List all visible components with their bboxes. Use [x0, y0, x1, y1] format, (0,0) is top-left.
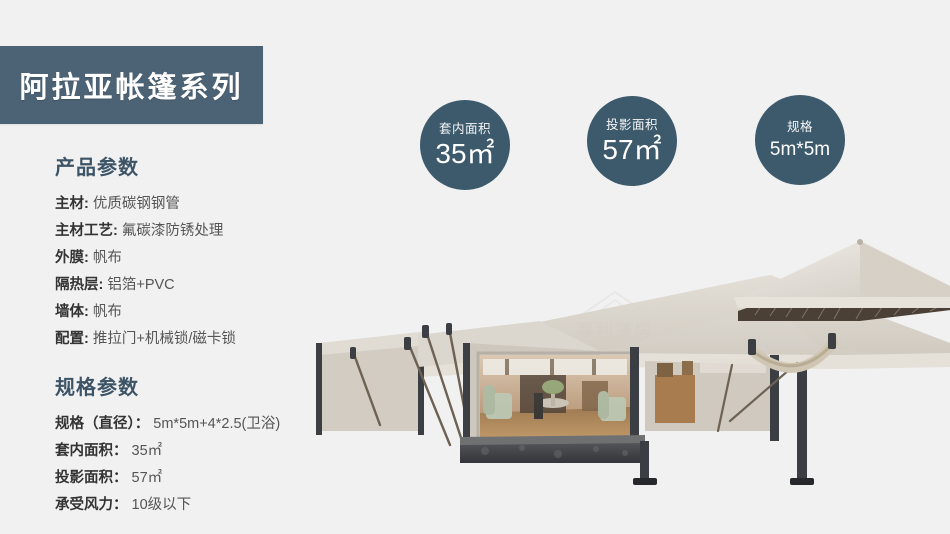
badge-label: 规格 [787, 119, 813, 135]
title-banner: 阿拉亚帐篷系列 [0, 46, 263, 124]
spec-value: 推拉门+机械锁/磁卡锁 [93, 331, 236, 347]
spec-key: 套内面积： [55, 443, 128, 459]
spec-row: 承受风力： 10级以下 [55, 492, 345, 519]
product-spec-page: 阿拉亚帐篷系列 产品参数 主材: 优质碳钢钢管 主材工艺: 氟碳漆防锈处理 外膜… [0, 0, 950, 534]
post-base-plate [790, 478, 814, 485]
spec-key: 投影面积： [55, 470, 128, 486]
spec-key: 承受风力： [55, 497, 128, 513]
spec-key: 主材工艺: [55, 223, 118, 239]
spec-value: 优质碳钢钢管 [93, 196, 180, 212]
badge-label: 投影面积 [606, 117, 658, 133]
glass-reflection [480, 355, 630, 443]
badge-circle-dimensions: 规格 5m*5m [755, 95, 845, 185]
facade-post-lower [640, 441, 649, 481]
roof-finial [857, 239, 863, 245]
spec-value: 5m*5m+4*2.5(卫浴) [153, 416, 280, 432]
product-params-heading: 产品参数 [55, 155, 345, 181]
spec-key: 隔热层: [55, 277, 103, 293]
spec-value: 35㎡ [132, 443, 163, 459]
spec-key: 规格（直径）： [55, 416, 149, 432]
badge-value: 57㎡ [602, 134, 661, 166]
cap-fascia [734, 297, 950, 308]
spec-value: 帆布 [93, 250, 122, 266]
badge-circle-interior-area: 套内面积 35㎡ [420, 100, 510, 190]
tent-product-image [300, 235, 950, 485]
spec-key: 墙体: [55, 304, 89, 320]
spec-value: 10级以下 [132, 497, 192, 513]
left-wing-post [316, 343, 322, 435]
terrace-door [655, 375, 695, 423]
spec-key: 主材: [55, 196, 89, 212]
badge-value: 5m*5m [770, 138, 830, 162]
spec-value: 57㎡ [132, 470, 163, 486]
badge-value: 35㎡ [435, 138, 494, 170]
badge-label: 套内面积 [439, 121, 491, 137]
page-title: 阿拉亚帐篷系列 [19, 64, 243, 106]
facade-post-left [463, 343, 470, 443]
spec-value: 帆布 [93, 304, 122, 320]
post-base-plate-2 [633, 478, 657, 485]
spec-value: 氟碳漆防锈处理 [122, 223, 224, 239]
spec-value: 铝箔+PVC [107, 277, 174, 293]
terrace-post-outer [797, 363, 807, 481]
badge-circle-projected-area: 投影面积 57㎡ [587, 96, 677, 186]
spec-key: 配置: [55, 331, 89, 347]
spec-key: 外膜: [55, 250, 89, 266]
tent-illustration [300, 235, 950, 485]
spec-row: 主材: 优质碳钢钢管 [55, 191, 345, 218]
